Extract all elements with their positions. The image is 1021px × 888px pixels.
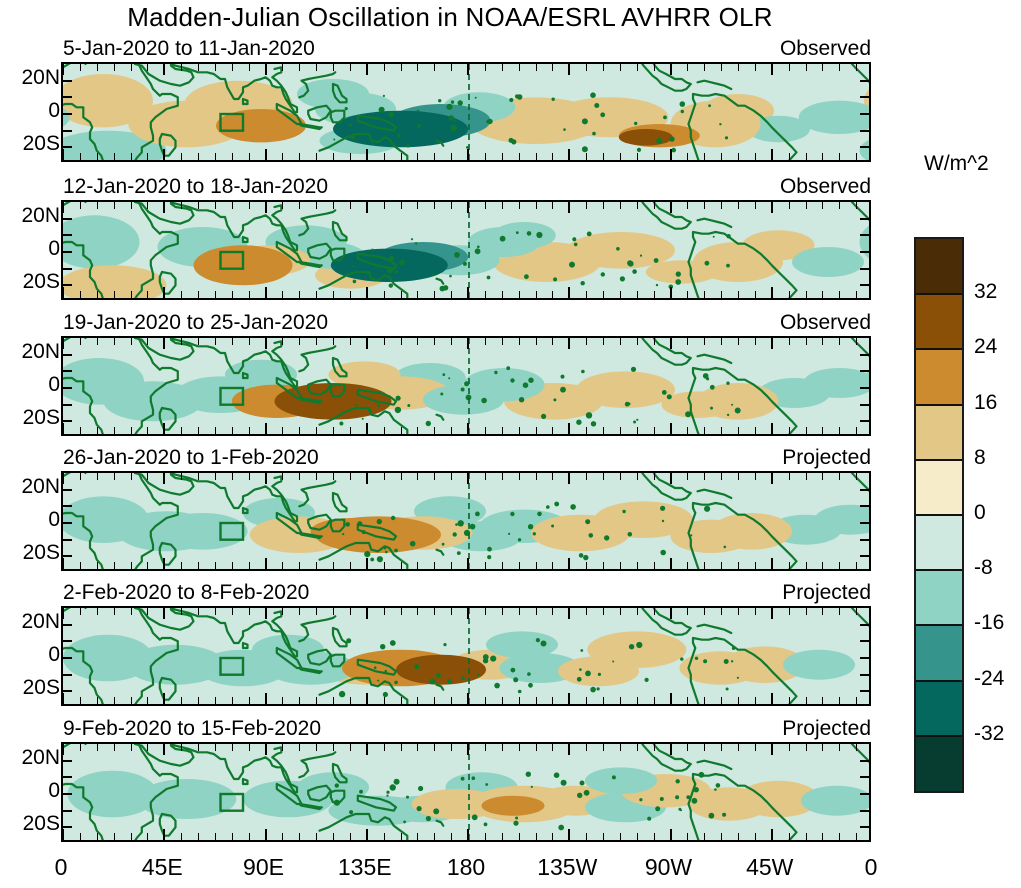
x-tick bbox=[568, 338, 570, 349]
x-tick bbox=[822, 202, 823, 209]
x-tick bbox=[738, 697, 739, 704]
x-tick bbox=[552, 291, 553, 298]
map-panel bbox=[61, 742, 871, 842]
x-tick bbox=[789, 338, 790, 345]
x-tick bbox=[755, 608, 756, 615]
y-tick bbox=[860, 776, 869, 778]
x-tick bbox=[316, 473, 317, 480]
x-tick bbox=[502, 833, 503, 840]
panel-date-label: 19-Jan-2020 to 25-Jan-2020 bbox=[63, 311, 328, 335]
x-tick bbox=[401, 744, 402, 751]
x-tick bbox=[620, 608, 621, 615]
colorbar-divider bbox=[916, 293, 962, 295]
x-tick bbox=[97, 153, 98, 160]
x-tick bbox=[822, 744, 823, 751]
x-tick bbox=[704, 833, 705, 840]
x-tick bbox=[839, 833, 840, 840]
x-tick bbox=[163, 608, 165, 619]
x-tick bbox=[333, 608, 334, 615]
x-tick bbox=[568, 423, 570, 434]
y-tick bbox=[63, 640, 72, 642]
x-tick bbox=[232, 608, 233, 615]
x-tick bbox=[485, 427, 486, 434]
x-tick bbox=[536, 833, 537, 840]
y-tick bbox=[860, 96, 869, 98]
x-tick bbox=[401, 202, 402, 209]
mjo-figure: Madden-Julian Oscillation in NOAA/ESRL A… bbox=[0, 0, 1021, 888]
x-tick bbox=[637, 427, 638, 434]
x-tick bbox=[467, 64, 469, 75]
x-tick bbox=[299, 291, 300, 298]
x-tick bbox=[586, 291, 587, 298]
x-tick bbox=[147, 153, 148, 160]
x-tick bbox=[806, 697, 807, 704]
x-tick bbox=[721, 608, 722, 615]
x-tick bbox=[198, 291, 199, 298]
x-tick bbox=[147, 427, 148, 434]
x-tick bbox=[131, 291, 132, 298]
x-tick bbox=[131, 833, 132, 840]
x-tick bbox=[536, 291, 537, 298]
x-tick bbox=[755, 64, 756, 71]
x-tick bbox=[181, 291, 182, 298]
colorbar-band bbox=[916, 460, 962, 515]
colorbar-band bbox=[916, 736, 962, 791]
y-tick bbox=[63, 146, 72, 148]
y-tick bbox=[860, 354, 869, 356]
x-tick bbox=[704, 744, 705, 751]
x-tick bbox=[704, 338, 705, 345]
x-tick bbox=[401, 562, 402, 569]
x-tick bbox=[80, 202, 81, 209]
anomaly-field bbox=[63, 64, 871, 162]
x-tick bbox=[519, 833, 520, 840]
x-tick bbox=[856, 744, 857, 751]
x-tick bbox=[620, 744, 621, 751]
x-tick bbox=[519, 64, 520, 71]
x-tick bbox=[215, 562, 216, 569]
x-tick bbox=[637, 202, 638, 209]
x-tick bbox=[839, 608, 840, 615]
map-panel bbox=[61, 200, 871, 300]
x-tick bbox=[839, 562, 840, 569]
colorbar-divider bbox=[916, 624, 962, 626]
anomaly-field bbox=[63, 473, 871, 571]
x-tick bbox=[62, 202, 64, 213]
x-tick bbox=[316, 744, 317, 751]
x-tick bbox=[738, 744, 739, 751]
x-tick bbox=[519, 562, 520, 569]
y-axis-label: 0 bbox=[4, 237, 60, 261]
x-tick bbox=[249, 291, 250, 298]
x-tick bbox=[822, 64, 823, 71]
x-tick bbox=[806, 473, 807, 480]
x-tick bbox=[198, 64, 199, 71]
x-tick bbox=[114, 562, 115, 569]
x-tick bbox=[434, 338, 435, 345]
x-tick bbox=[519, 697, 520, 704]
x-tick bbox=[417, 64, 418, 71]
x-tick bbox=[401, 338, 402, 345]
x-tick bbox=[232, 427, 233, 434]
y-tick bbox=[860, 760, 869, 762]
colorbar-tick-label: 8 bbox=[974, 446, 986, 470]
x-tick bbox=[181, 427, 182, 434]
x-axis-label: 180 bbox=[447, 854, 485, 881]
x-tick bbox=[687, 744, 688, 751]
date-line bbox=[468, 202, 470, 298]
y-axis-label: 20S bbox=[4, 812, 60, 836]
x-tick bbox=[839, 744, 840, 751]
x-tick bbox=[282, 64, 283, 71]
x-axis-label: 45E bbox=[142, 854, 183, 881]
x-tick bbox=[721, 202, 722, 209]
x-tick bbox=[704, 153, 705, 160]
x-tick bbox=[586, 744, 587, 751]
x-tick bbox=[384, 473, 385, 480]
x-tick bbox=[434, 697, 435, 704]
x-tick bbox=[316, 833, 317, 840]
x-tick bbox=[552, 153, 553, 160]
x-tick bbox=[536, 153, 537, 160]
x-tick bbox=[265, 829, 267, 840]
x-tick bbox=[822, 833, 823, 840]
x-tick bbox=[467, 423, 469, 434]
x-tick bbox=[502, 608, 503, 615]
y-tick bbox=[63, 80, 72, 82]
x-tick bbox=[637, 608, 638, 615]
x-tick bbox=[80, 562, 81, 569]
x-tick bbox=[114, 744, 115, 751]
x-tick bbox=[62, 693, 64, 704]
x-tick bbox=[114, 427, 115, 434]
x-tick bbox=[417, 562, 418, 569]
x-tick bbox=[316, 64, 317, 71]
x-tick bbox=[249, 473, 250, 480]
x-tick bbox=[789, 291, 790, 298]
date-line bbox=[468, 473, 470, 569]
x-tick bbox=[568, 202, 570, 213]
x-tick bbox=[299, 697, 300, 704]
x-tick bbox=[637, 64, 638, 71]
y-tick bbox=[860, 130, 869, 132]
x-tick bbox=[333, 338, 334, 345]
x-tick bbox=[789, 64, 790, 71]
y-axis-label: 20N bbox=[4, 66, 60, 90]
y-tick bbox=[63, 420, 72, 422]
x-tick bbox=[637, 473, 638, 480]
x-tick bbox=[755, 697, 756, 704]
map-panel bbox=[61, 606, 871, 706]
x-tick bbox=[467, 744, 469, 755]
map-panel bbox=[61, 336, 871, 436]
x-tick bbox=[232, 153, 233, 160]
colorbar-band bbox=[916, 405, 962, 460]
map-panel bbox=[61, 62, 871, 162]
x-tick bbox=[114, 153, 115, 160]
x-tick bbox=[670, 608, 672, 619]
colorbar-tick-label: -32 bbox=[974, 722, 1004, 746]
x-tick bbox=[856, 473, 857, 480]
x-tick bbox=[654, 833, 655, 840]
y-axis-label: 0 bbox=[4, 508, 60, 532]
x-tick bbox=[687, 427, 688, 434]
y-tick bbox=[63, 674, 72, 676]
x-tick bbox=[198, 744, 199, 751]
x-tick bbox=[299, 153, 300, 160]
x-tick bbox=[467, 473, 469, 484]
x-tick bbox=[467, 149, 469, 160]
x-tick bbox=[552, 608, 553, 615]
x-tick bbox=[789, 697, 790, 704]
anomaly-field bbox=[63, 338, 871, 436]
x-tick bbox=[467, 202, 469, 213]
x-tick bbox=[603, 427, 604, 434]
x-tick bbox=[704, 608, 705, 615]
x-tick bbox=[282, 608, 283, 615]
x-tick bbox=[265, 423, 267, 434]
y-tick bbox=[860, 657, 869, 659]
x-tick bbox=[80, 744, 81, 751]
x-tick bbox=[856, 338, 857, 345]
x-tick bbox=[282, 202, 283, 209]
colorbar-tick-label: 24 bbox=[974, 335, 997, 359]
y-tick bbox=[860, 505, 869, 507]
x-tick bbox=[519, 202, 520, 209]
x-tick bbox=[536, 64, 537, 71]
x-tick bbox=[147, 64, 148, 71]
x-tick bbox=[350, 291, 351, 298]
x-tick bbox=[586, 64, 587, 71]
x-tick bbox=[198, 608, 199, 615]
y-tick bbox=[63, 810, 72, 812]
y-axis-label: 20N bbox=[4, 746, 60, 770]
x-tick bbox=[366, 202, 368, 213]
x-tick bbox=[822, 608, 823, 615]
x-tick bbox=[97, 473, 98, 480]
x-tick bbox=[350, 427, 351, 434]
x-tick bbox=[856, 697, 857, 704]
x-tick bbox=[417, 473, 418, 480]
x-tick bbox=[316, 562, 317, 569]
x-tick bbox=[401, 697, 402, 704]
x-axis-label: 135E bbox=[338, 854, 392, 881]
x-tick bbox=[249, 153, 250, 160]
x-tick bbox=[384, 744, 385, 751]
x-tick bbox=[806, 608, 807, 615]
x-tick bbox=[350, 64, 351, 71]
x-tick bbox=[114, 64, 115, 71]
x-tick bbox=[502, 473, 503, 480]
x-tick bbox=[249, 202, 250, 209]
x-axis-label: 90W bbox=[645, 854, 692, 881]
x-tick bbox=[181, 562, 182, 569]
x-tick bbox=[299, 833, 300, 840]
x-tick bbox=[80, 697, 81, 704]
x-tick bbox=[114, 833, 115, 840]
x-tick bbox=[384, 608, 385, 615]
x-tick bbox=[232, 833, 233, 840]
y-tick bbox=[63, 268, 72, 270]
y-tick bbox=[860, 690, 869, 692]
x-tick bbox=[839, 697, 840, 704]
x-tick bbox=[637, 833, 638, 840]
x-tick bbox=[771, 149, 773, 160]
x-tick bbox=[670, 287, 672, 298]
x-tick bbox=[502, 64, 503, 71]
x-tick bbox=[249, 608, 250, 615]
x-tick bbox=[806, 338, 807, 345]
x-tick bbox=[249, 833, 250, 840]
x-tick bbox=[62, 558, 64, 569]
x-tick bbox=[738, 338, 739, 345]
x-tick bbox=[299, 64, 300, 71]
colorbar-divider bbox=[916, 514, 962, 516]
panel-status-label: Observed bbox=[780, 311, 871, 335]
x-tick bbox=[654, 562, 655, 569]
x-tick bbox=[552, 833, 553, 840]
x-tick bbox=[806, 562, 807, 569]
y-tick bbox=[63, 370, 72, 372]
x-tick bbox=[620, 833, 621, 840]
x-tick bbox=[350, 202, 351, 209]
x-tick bbox=[654, 153, 655, 160]
x-tick bbox=[670, 558, 672, 569]
x-tick bbox=[620, 473, 621, 480]
x-tick bbox=[536, 202, 537, 209]
colorbar-tick-label: -16 bbox=[974, 611, 1004, 635]
x-tick bbox=[654, 427, 655, 434]
panel-date-label: 9-Feb-2020 to 15-Feb-2020 bbox=[63, 717, 321, 741]
x-tick bbox=[350, 833, 351, 840]
x-tick bbox=[299, 608, 300, 615]
x-tick bbox=[198, 153, 199, 160]
x-tick bbox=[755, 291, 756, 298]
x-tick bbox=[114, 608, 115, 615]
y-tick bbox=[63, 760, 72, 762]
x-tick bbox=[502, 202, 503, 209]
x-tick bbox=[215, 473, 216, 480]
x-tick bbox=[434, 202, 435, 209]
y-tick bbox=[63, 251, 72, 253]
x-tick bbox=[114, 202, 115, 209]
x-tick bbox=[316, 338, 317, 345]
x-tick bbox=[131, 473, 132, 480]
y-tick bbox=[63, 690, 72, 692]
x-tick bbox=[350, 744, 351, 751]
x-tick bbox=[147, 697, 148, 704]
colorbar-tick-label: 32 bbox=[974, 280, 997, 304]
x-tick bbox=[97, 608, 98, 615]
x-tick bbox=[163, 202, 165, 213]
x-tick bbox=[856, 153, 857, 160]
x-tick bbox=[485, 202, 486, 209]
x-tick bbox=[586, 562, 587, 569]
x-tick bbox=[417, 427, 418, 434]
x-tick bbox=[62, 149, 64, 160]
x-tick bbox=[806, 833, 807, 840]
x-tick bbox=[771, 473, 773, 484]
x-tick bbox=[789, 202, 790, 209]
y-tick bbox=[860, 674, 869, 676]
x-tick bbox=[198, 427, 199, 434]
x-tick bbox=[603, 202, 604, 209]
x-tick bbox=[670, 693, 672, 704]
panel-date-label: 2-Feb-2020 to 8-Feb-2020 bbox=[63, 581, 309, 605]
x-tick bbox=[232, 744, 233, 751]
x-tick bbox=[265, 202, 267, 213]
x-tick bbox=[485, 744, 486, 751]
x-tick bbox=[401, 833, 402, 840]
y-tick bbox=[63, 218, 72, 220]
x-tick bbox=[316, 153, 317, 160]
x-tick bbox=[249, 64, 250, 71]
x-tick bbox=[603, 291, 604, 298]
x-tick bbox=[721, 473, 722, 480]
x-tick bbox=[316, 291, 317, 298]
x-tick bbox=[401, 64, 402, 71]
x-tick bbox=[670, 473, 672, 484]
x-tick bbox=[333, 153, 334, 160]
x-tick bbox=[467, 693, 469, 704]
x-tick bbox=[97, 833, 98, 840]
x-tick bbox=[97, 562, 98, 569]
panel-status-label: Projected bbox=[782, 446, 871, 470]
x-tick bbox=[401, 608, 402, 615]
x-tick bbox=[806, 202, 807, 209]
anomaly-field bbox=[63, 744, 871, 842]
y-tick bbox=[860, 522, 869, 524]
x-tick bbox=[80, 338, 81, 345]
colorbar-tick-label: -8 bbox=[974, 556, 993, 580]
y-tick bbox=[63, 539, 72, 541]
x-tick bbox=[654, 608, 655, 615]
colorbar-divider bbox=[916, 404, 962, 406]
x-tick bbox=[839, 473, 840, 480]
y-tick bbox=[860, 624, 869, 626]
x-tick bbox=[467, 558, 469, 569]
x-tick bbox=[519, 608, 520, 615]
x-tick bbox=[568, 473, 570, 484]
x-tick bbox=[687, 64, 688, 71]
x-tick bbox=[299, 338, 300, 345]
x-tick bbox=[822, 153, 823, 160]
colorbar-band bbox=[916, 239, 962, 294]
page-title: Madden-Julian Oscillation in NOAA/ESRL A… bbox=[0, 2, 900, 33]
x-tick bbox=[97, 697, 98, 704]
x-tick bbox=[366, 338, 368, 349]
x-tick bbox=[434, 291, 435, 298]
x-tick bbox=[771, 558, 773, 569]
x-tick bbox=[536, 744, 537, 751]
x-tick bbox=[704, 473, 705, 480]
x-tick bbox=[232, 562, 233, 569]
anomaly-field bbox=[63, 608, 871, 706]
x-tick bbox=[434, 833, 435, 840]
x-tick bbox=[131, 562, 132, 569]
x-tick bbox=[451, 202, 452, 209]
x-tick bbox=[485, 291, 486, 298]
x-tick bbox=[215, 338, 216, 345]
x-tick bbox=[181, 833, 182, 840]
x-tick bbox=[586, 697, 587, 704]
x-tick bbox=[249, 744, 250, 751]
x-tick bbox=[568, 608, 570, 619]
x-tick bbox=[366, 558, 368, 569]
x-tick bbox=[282, 153, 283, 160]
x-tick bbox=[299, 427, 300, 434]
x-tick bbox=[147, 744, 148, 751]
